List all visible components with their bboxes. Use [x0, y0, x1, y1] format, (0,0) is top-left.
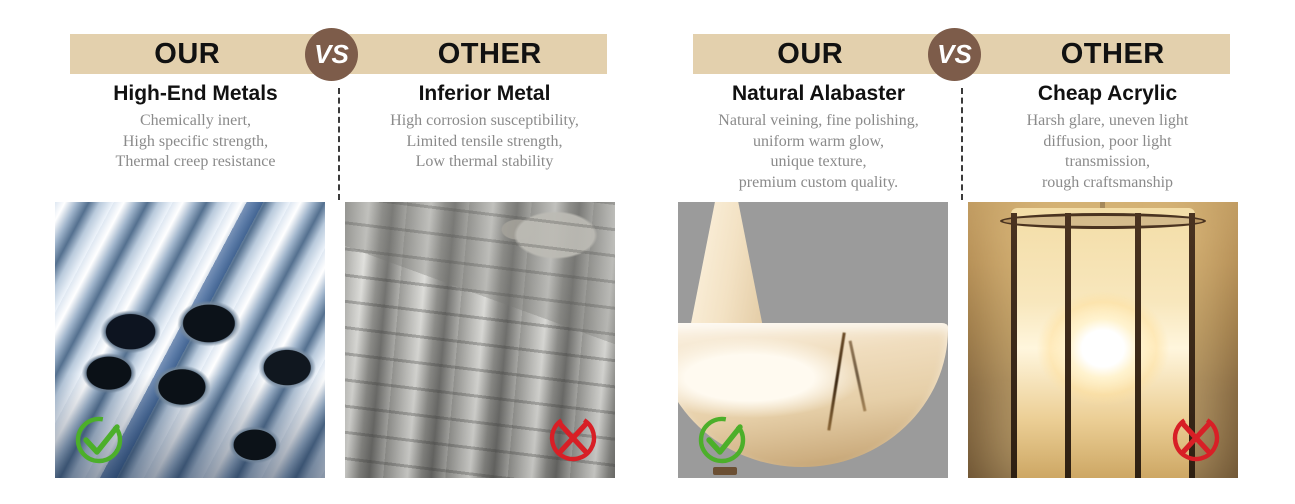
lantern-ring — [1000, 213, 1205, 229]
desc-line: premium custom quality. — [718, 173, 918, 193]
banner-label-other: OTHER — [962, 40, 1231, 69]
column-our: Natural Alabaster Natural veining, fine … — [677, 82, 960, 200]
vs-badge: VS — [928, 28, 981, 81]
vs-badge: VS — [305, 28, 358, 81]
desc-line: Chemically inert, — [116, 111, 276, 131]
desc-line: unique texture, — [718, 152, 918, 172]
photo-row — [663, 202, 1263, 478]
product-desc-other: Harsh glare, uneven light diffusion, poo… — [1027, 111, 1189, 193]
lantern-glow — [1011, 208, 1195, 478]
banner-label-our: OUR — [70, 40, 339, 69]
product-name-our: High-End Metals — [113, 82, 278, 106]
banner-label-other: OTHER — [339, 40, 608, 69]
product-name-other: Cheap Acrylic — [1038, 82, 1177, 106]
desc-line: Thermal creep resistance — [116, 152, 276, 172]
desc-line: Low thermal stability — [390, 152, 579, 172]
comparison-infographic: OUR OTHER VS High-End Metals Chemically … — [0, 0, 1295, 504]
photo-our — [55, 202, 325, 478]
photo-other — [968, 202, 1238, 478]
product-desc-our: Chemically inert, High specific strength… — [116, 111, 276, 172]
column-other: Cheap Acrylic Harsh glare, uneven light … — [966, 82, 1249, 200]
text-columns: High-End Metals Chemically inert, High s… — [40, 82, 640, 200]
text-columns: Natural Alabaster Natural veining, fine … — [663, 82, 1263, 200]
dashed-divider — [338, 88, 340, 200]
lantern-frame-bar — [1135, 213, 1141, 478]
lamp-stem — [689, 202, 765, 334]
desc-line: Natural veining, fine polishing, — [718, 111, 918, 131]
cross-badge-icon — [547, 412, 599, 464]
photo-our — [678, 202, 948, 478]
desc-line: transmission, — [1027, 152, 1189, 172]
product-desc-our: Natural veining, fine polishing, uniform… — [718, 111, 918, 193]
desc-line: Limited tensile strength, — [390, 132, 579, 152]
lamp-finial — [713, 467, 737, 475]
banner-label-our: OUR — [693, 40, 962, 69]
photo-other — [345, 202, 615, 478]
comparison-block-alabaster: OUR OTHER VS Natural Alabaster Natural v… — [663, 0, 1263, 504]
check-badge-icon — [696, 414, 748, 466]
desc-line: Harsh glare, uneven light — [1027, 111, 1189, 131]
dashed-divider — [961, 88, 963, 200]
column-other: Inferior Metal High corrosion susceptibi… — [343, 82, 626, 200]
column-our: High-End Metals Chemically inert, High s… — [54, 82, 337, 200]
check-badge-icon — [73, 414, 125, 466]
comparison-block-metals: OUR OTHER VS High-End Metals Chemically … — [40, 0, 640, 504]
desc-line: diffusion, poor light — [1027, 132, 1189, 152]
desc-line: rough craftsmanship — [1027, 173, 1189, 193]
lantern-frame-bar — [1011, 213, 1017, 478]
product-name-our: Natural Alabaster — [732, 82, 905, 106]
lantern-frame-bar — [1065, 213, 1071, 478]
product-name-other: Inferior Metal — [419, 82, 551, 106]
desc-line: High specific strength, — [116, 132, 276, 152]
cross-badge-icon — [1170, 412, 1222, 464]
photo-row — [40, 202, 640, 478]
product-desc-other: High corrosion susceptibility, Limited t… — [390, 111, 579, 172]
desc-line: uniform warm glow, — [718, 132, 918, 152]
desc-line: High corrosion susceptibility, — [390, 111, 579, 131]
